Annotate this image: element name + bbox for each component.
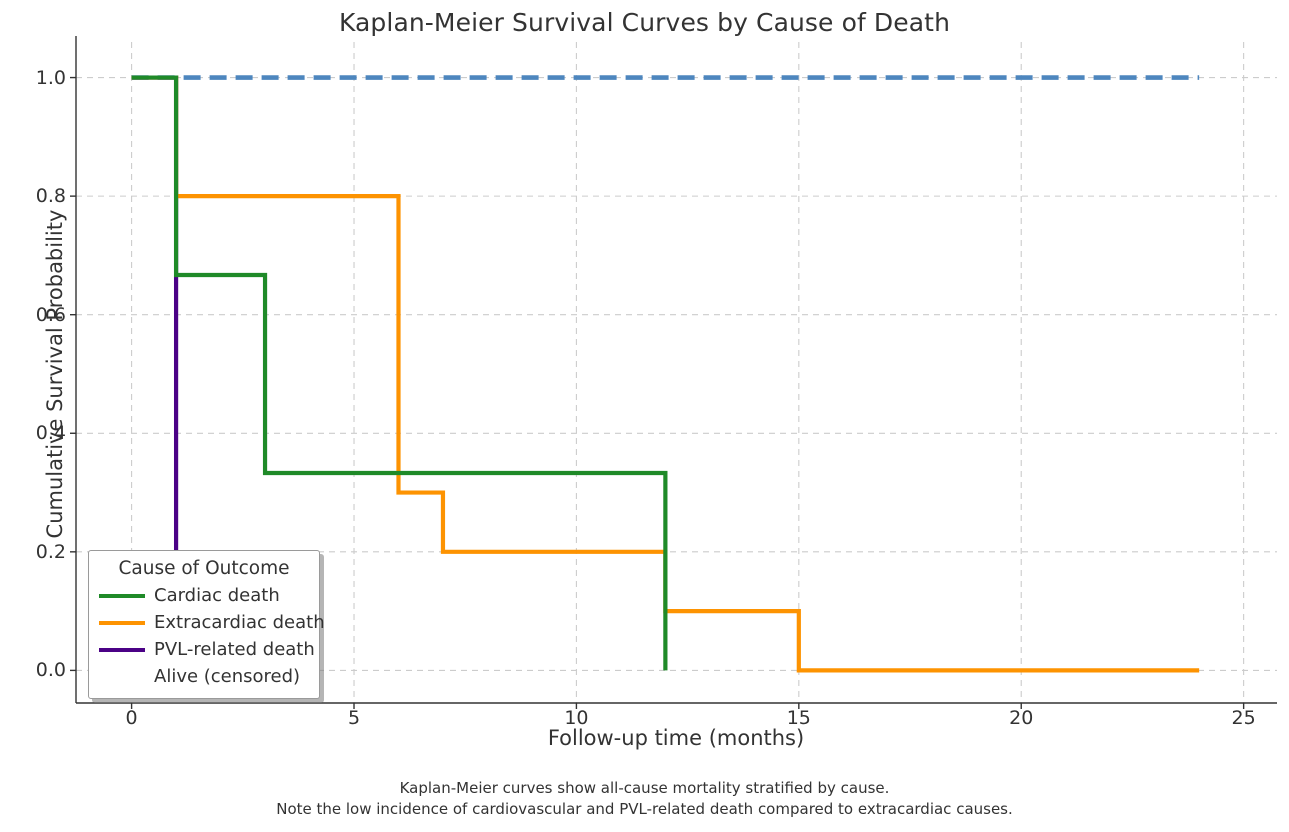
legend-entry[interactable]: Cardiac death xyxy=(99,582,309,609)
legend-entry[interactable]: Alive (censored) xyxy=(99,663,309,690)
legend-swatch-extracardiac-death xyxy=(99,615,145,631)
legend-title: Cause of Outcome xyxy=(99,558,309,582)
y-axis-label: Cumulative Survival Probability xyxy=(43,64,67,684)
figure-caption: Kaplan-Meier curves show all-cause morta… xyxy=(0,778,1289,820)
legend: Cause of Outcome Cardiac deathExtracardi… xyxy=(88,550,320,699)
legend-swatch-alive-censored xyxy=(99,669,145,685)
caption-line: Note the low incidence of cardiovascular… xyxy=(0,799,1289,820)
x-axis-label: Follow-up time (months) xyxy=(76,726,1276,750)
caption-line: Kaplan-Meier curves show all-cause morta… xyxy=(0,778,1289,799)
legend-swatch-pvl-related-death xyxy=(99,642,145,658)
legend-entry-label: Extracardiac death xyxy=(154,612,325,633)
legend-entry[interactable]: Extracardiac death xyxy=(99,609,309,636)
plot-area xyxy=(0,0,1289,832)
legend-entries: Cardiac deathExtracardiac deathPVL-relat… xyxy=(99,582,309,690)
legend-swatch-cardiac-death xyxy=(99,588,145,604)
legend-entry[interactable]: PVL-related death xyxy=(99,636,309,663)
legend-entry-label: Cardiac death xyxy=(154,585,280,606)
figure-canvas: Kaplan-Meier Survival Curves by Cause of… xyxy=(0,0,1289,832)
legend-entry-label: PVL-related death xyxy=(154,639,315,660)
legend-entry-label: Alive (censored) xyxy=(154,666,300,687)
